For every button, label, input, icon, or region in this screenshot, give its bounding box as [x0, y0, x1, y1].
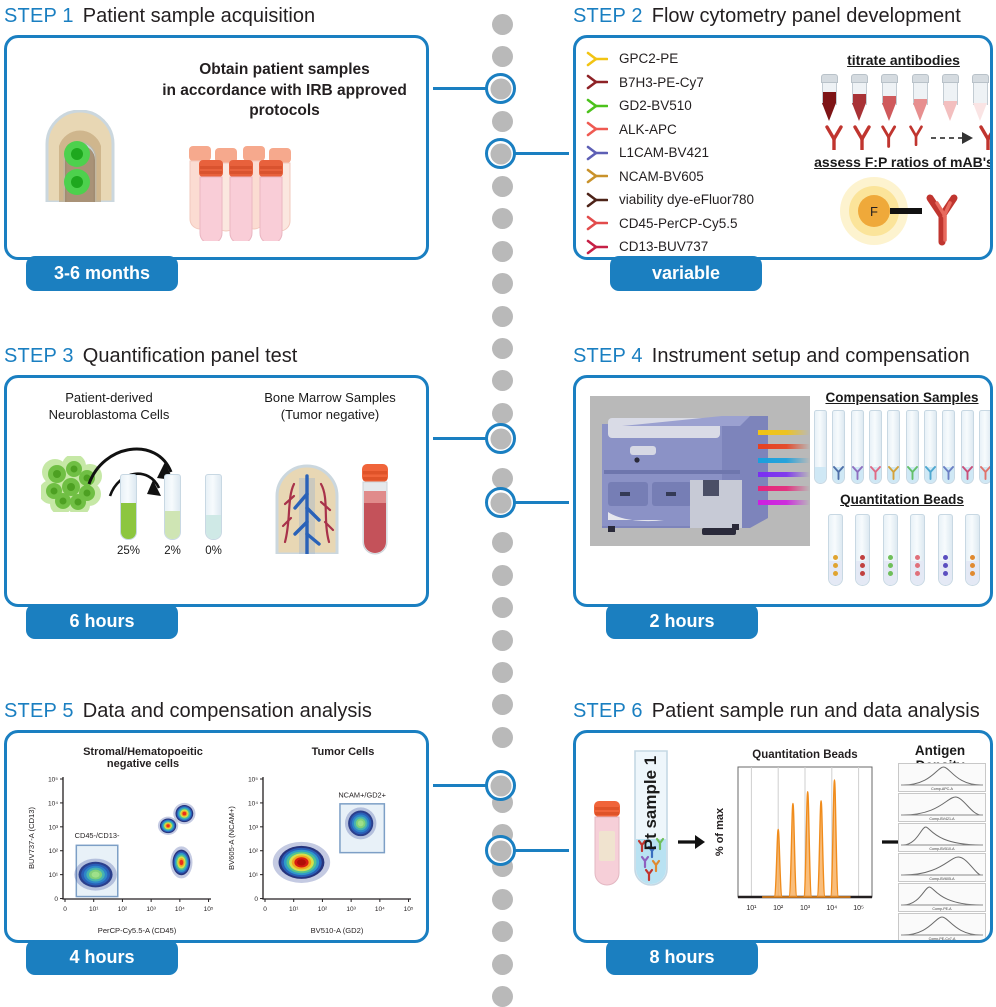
quantitation-beads-histogram[interactable]: Quantitation Beads10¹10²10³10⁴10⁵% of ma… — [710, 747, 878, 927]
tube-cap — [912, 74, 929, 83]
density-channel-label: Comp-PE-A — [899, 907, 985, 911]
titration-tube[interactable] — [972, 74, 989, 121]
dilution-label: 2% — [164, 545, 181, 557]
step-3: STEP 3 Quantification panel test Patient… — [4, 342, 444, 607]
antigen-density-panels[interactable]: Comp-APC-AComp-BV421-AComp-BV510-AComp-B… — [898, 763, 984, 943]
step-3-card[interactable]: Patient-derived Neuroblastoma Cells Bone… — [4, 375, 429, 607]
timeline-dot — [492, 986, 513, 1007]
y-tick-label: 10⁵ — [48, 777, 58, 784]
dilution-label: 0% — [205, 545, 222, 557]
antibody-icon-wrap — [586, 51, 612, 67]
tube-tip-fill — [822, 103, 836, 121]
dilution-tube — [164, 474, 181, 540]
population-density-contour — [358, 820, 364, 826]
antibody-row[interactable]: B7H3-PE-Cy7 — [586, 71, 754, 95]
compensation-antibody-icon — [887, 466, 900, 480]
density-channel-label: Comp-BV510-A — [899, 847, 985, 851]
x-tick-label: 10² — [318, 906, 328, 913]
timeline-dot — [492, 532, 513, 553]
timeline-dot — [492, 370, 513, 391]
bead-dot — [943, 571, 948, 576]
x-axis-label: BV510-A (GD2) — [311, 926, 364, 935]
timeline-dot — [492, 241, 513, 262]
step-2: STEP 2 Flow cytometry panel development … — [573, 2, 996, 260]
step-4: STEP 4 Instrument setup and compensation — [573, 342, 996, 607]
bead-dot — [943, 563, 948, 568]
x-tick-label: 0 — [263, 906, 267, 913]
antibody-icon — [586, 192, 608, 208]
tube-liquid — [823, 92, 836, 103]
y-tick-label: 10³ — [249, 824, 259, 831]
bead-tube[interactable] — [965, 514, 980, 586]
y-tick-label: 10² — [49, 848, 59, 855]
antibody-row[interactable]: ALK-APC — [586, 118, 754, 142]
bead-tube[interactable] — [855, 514, 870, 586]
laser-spectrum-line — [758, 458, 810, 463]
antibody-row[interactable]: CD45-PerCP-Cy5.5 — [586, 212, 754, 236]
population-density-contour — [180, 860, 184, 865]
timeline-connector-node-3[interactable] — [485, 423, 516, 454]
timeline-node-core — [490, 143, 511, 164]
antibody-row[interactable]: CD13-BUV737 — [586, 235, 754, 259]
timeline-dot — [492, 694, 513, 715]
compensation-tube[interactable] — [851, 410, 864, 484]
quantitation-beads-heading: Quantitation Beads — [816, 492, 988, 507]
step-1-body-text: Obtain patient samples in accordance wit… — [147, 60, 422, 122]
compensation-antibody-icon — [979, 466, 992, 480]
step-4-duration-badge: 2 hours — [606, 604, 758, 639]
x-tick-label: 10³ — [146, 906, 156, 913]
y-tick-label: 10³ — [49, 824, 59, 831]
workflow-timeline — [483, 0, 521, 996]
compensation-tube[interactable] — [887, 410, 900, 484]
step-1-duration-badge: 3-6 months — [26, 256, 178, 291]
antibody-label: L1CAM-BV421 — [619, 145, 709, 160]
x-tick-label: 10⁴ — [375, 906, 385, 913]
compensation-samples-heading: Compensation Samples — [814, 390, 990, 405]
timeline-dot — [492, 565, 513, 586]
bead-dot — [833, 563, 838, 568]
antibody-icon-wrap — [586, 121, 612, 137]
bead-tube[interactable] — [883, 514, 898, 586]
timeline-dot — [492, 208, 513, 229]
step-1: STEP 1 Patient sample acquisition Obtain… — [4, 2, 444, 260]
plot-axes — [263, 777, 411, 899]
y-tick-label: 10² — [249, 848, 259, 855]
antibody-row[interactable]: L1CAM-BV421 — [586, 141, 754, 165]
pt-sample-tube: Pt sample 1 — [632, 747, 670, 897]
antibody-label: CD45-PerCP-Cy5.5 — [619, 216, 738, 231]
bone-marrow-icon — [269, 464, 345, 554]
tube-tip-fill — [882, 103, 896, 121]
antigen-density-row[interactable]: Comp-BV510-A — [898, 823, 986, 852]
tube-fill — [206, 515, 221, 539]
compensation-tube-series — [814, 410, 992, 484]
laser-spectrum-line — [758, 486, 810, 491]
bead-dot — [833, 571, 838, 576]
flow-plot-stromal-hematopoeitic[interactable]: Stromal/Hematopoeiticnegative cells010¹1… — [23, 743, 219, 939]
dilution-item[interactable]: 25% — [117, 474, 140, 557]
titration-antibody-gradient — [819, 124, 991, 150]
antigen-density-row[interactable]: Comp-PE-A — [898, 883, 986, 912]
x-tick-label: 10⁵ — [404, 906, 414, 913]
compensation-tube[interactable] — [942, 410, 955, 484]
compensation-tube[interactable] — [979, 410, 992, 484]
density-channel-label: Comp-APC-A — [899, 787, 985, 791]
step-4-title: Instrument setup and compensation — [652, 345, 970, 368]
timeline-node-core — [490, 78, 511, 99]
titration-tube[interactable] — [821, 74, 838, 121]
y-axis-label: BV605-A (NCAM+) — [227, 806, 236, 870]
histogram-x-tick: 10³ — [800, 905, 811, 912]
tube-tip-fill — [852, 103, 866, 121]
y-tick-label: 10¹ — [249, 872, 259, 879]
density-channel-label: Comp-BV605-A — [899, 877, 985, 881]
step-5-header: STEP 5 Data and compensation analysis — [4, 697, 444, 723]
titration-tube[interactable] — [851, 74, 868, 121]
titrate-antibodies-heading: titrate antibodies — [821, 52, 986, 68]
antibody-label: viability dye-eFluor780 — [619, 192, 754, 207]
timeline-dot — [492, 889, 513, 910]
bead-tube[interactable] — [938, 514, 953, 586]
tube-tip-fill — [943, 103, 957, 121]
step-2-number: STEP 2 — [573, 5, 643, 28]
histogram-x-tick: 10⁴ — [826, 905, 837, 912]
tube-liquid — [944, 101, 957, 103]
population-density-contour — [297, 859, 306, 865]
timeline-dot — [492, 111, 513, 132]
bone-marrow-samples-heading: Bone Marrow Samples (Tumor negative) — [245, 390, 415, 424]
step-3-duration-badge: 6 hours — [26, 604, 178, 639]
antigen-density-row[interactable]: Comp-BV605-A — [898, 853, 986, 882]
tube-cap — [881, 74, 898, 83]
compensation-antibody-icon — [942, 466, 955, 480]
bead-dot — [970, 571, 975, 576]
bead-dot — [888, 555, 893, 560]
y-tick-label: 0 — [54, 896, 58, 903]
timeline-connector-node-2[interactable] — [485, 138, 516, 169]
bead-tube[interactable] — [828, 514, 843, 586]
dilution-item[interactable]: 0% — [205, 474, 222, 557]
antibody-icon — [586, 215, 608, 231]
plot-title-line: Stromal/Hematopoeitic — [83, 746, 203, 758]
timeline-dot — [492, 921, 513, 942]
antibody-label: GD2-BV510 — [619, 98, 692, 113]
histogram-x-tick: 10⁵ — [853, 905, 864, 912]
antibody-row[interactable]: GPC2-PE — [586, 47, 754, 71]
compensation-antibody-icon — [961, 466, 974, 480]
laser-spectrum-line — [758, 500, 810, 505]
compensation-tube[interactable] — [906, 410, 919, 484]
tube-cap — [942, 74, 959, 83]
compensation-antibody-icon — [832, 466, 845, 480]
step-3-number: STEP 3 — [4, 345, 74, 368]
y-tick-label: 10⁴ — [48, 800, 58, 807]
compensation-antibody-icon — [906, 466, 919, 480]
timeline-dot — [492, 273, 513, 294]
flow-cytometry-plot[interactable]: Tumor Cells010¹10²10³10⁴10⁵10⁵10⁴10³10²1… — [223, 743, 419, 939]
antibody-icon-wrap — [586, 239, 612, 255]
x-tick-label: 10¹ — [289, 906, 299, 913]
histogram-x-tick: 10² — [773, 905, 784, 912]
step-2-header: STEP 2 Flow cytometry panel development — [573, 2, 996, 28]
step-4-card[interactable]: Compensation Samples Quantitation Beads — [573, 375, 993, 607]
step-2-duration-badge: variable — [610, 256, 762, 291]
tube-tip-fill — [913, 103, 927, 121]
antibody-icon — [586, 145, 608, 161]
step-1-title: Patient sample acquisition — [83, 5, 315, 28]
timeline-connector-node-6[interactable] — [485, 835, 516, 866]
compensation-tube[interactable] — [924, 410, 937, 484]
dilution-series: 25%2%0% — [117, 474, 222, 557]
antibody-label: CD13-BUV737 — [619, 239, 708, 254]
antibody-label: GPC2-PE — [619, 51, 678, 66]
fluorophore-protein-ratio-icon: F — [838, 176, 973, 246]
timeline-node-core — [490, 428, 511, 449]
timeline-connector-node-4[interactable] — [485, 487, 516, 518]
timeline-dot — [492, 468, 513, 489]
gate-label: NCAM+/GD2+ — [338, 791, 386, 800]
histogram-svg[interactable]: Quantitation Beads10¹10²10³10⁴10⁵% of ma… — [710, 747, 878, 927]
step-1-card[interactable]: Obtain patient samples in accordance wit… — [4, 35, 429, 260]
population-density-contour — [182, 812, 186, 816]
compensation-tube[interactable] — [869, 410, 882, 484]
x-tick-label: 10³ — [346, 906, 356, 913]
tube-fill — [815, 467, 826, 483]
y-tick-label: 10¹ — [49, 872, 59, 879]
timeline-dot — [492, 176, 513, 197]
flow-plot-tumor-cells[interactable]: Tumor Cells010¹10²10³10⁴10⁵10⁵10⁴10³10²1… — [223, 743, 419, 939]
antibody-icon-wrap — [586, 192, 612, 208]
bead-dot — [833, 555, 838, 560]
titration-tube-series — [821, 74, 989, 121]
fluorophore-letter: F — [870, 204, 878, 219]
patient-derived-cells-heading: Patient-derived Neuroblastoma Cells — [29, 390, 189, 424]
density-channel-label: Comp-PE-Cy7-A — [899, 937, 985, 941]
bead-dot — [888, 563, 893, 568]
x-axis-label: PerCP-Cy5.5-A (CD45) — [98, 926, 177, 935]
dilution-label: 25% — [117, 545, 140, 557]
dilution-tube — [205, 474, 222, 540]
arrow-right-icon-1 — [678, 833, 706, 851]
step-6: STEP 6 Patient sample run and data analy… — [573, 697, 996, 943]
plot-title-line: Tumor Cells — [312, 746, 375, 758]
timeline-connector-line-6 — [515, 849, 569, 852]
titration-antibody-series — [819, 124, 991, 155]
step-3-header: STEP 3 Quantification panel test — [4, 342, 444, 368]
population-density-contour — [166, 824, 169, 827]
antibody-row[interactable]: GD2-BV510 — [586, 94, 754, 118]
compensation-tube[interactable] — [814, 410, 827, 484]
histogram-title: Quantitation Beads — [752, 749, 857, 761]
tube-glass-wrap — [814, 410, 827, 484]
step-4-number: STEP 4 — [573, 345, 643, 368]
step-5-duration-badge: 4 hours — [26, 940, 178, 975]
blood-tube-icon — [359, 464, 391, 556]
antigen-density-row[interactable]: Comp-BV421-A — [898, 793, 986, 822]
plot-title-line: negative cells — [107, 758, 179, 770]
timeline-connector-node-5[interactable] — [485, 770, 516, 801]
titration-tube[interactable] — [912, 74, 929, 121]
x-tick-label: 10⁴ — [175, 906, 185, 913]
timeline-dot — [492, 338, 513, 359]
antibody-row[interactable]: NCAM-BV605 — [586, 165, 754, 189]
timeline-dot — [492, 597, 513, 618]
timeline-dot — [492, 14, 513, 35]
timeline-dot — [492, 954, 513, 975]
tube-fill — [121, 503, 136, 539]
compensation-antibody-icon — [924, 466, 937, 480]
x-tick-label: 0 — [63, 906, 67, 913]
step-2-card[interactable]: GPC2-PEB7H3-PE-Cy7GD2-BV510ALK-APCL1CAM-… — [573, 35, 993, 260]
timeline-dot — [492, 630, 513, 651]
laser-spectrum-line — [758, 472, 810, 477]
step-6-title: Patient sample run and data analysis — [652, 700, 980, 723]
tube-fill — [165, 511, 180, 539]
bead-dot — [888, 571, 893, 576]
x-tick-label: 10⁵ — [204, 906, 214, 913]
antibody-icon-wrap — [586, 74, 612, 90]
step-1-number: STEP 1 — [4, 5, 74, 28]
step-6-card[interactable]: Pt sample 1 Quantitation Beads10¹10²10³1… — [573, 730, 993, 943]
antibody-icon — [586, 121, 608, 137]
antibody-icon — [586, 98, 608, 114]
step-1-header: STEP 1 Patient sample acquisition — [4, 2, 444, 28]
laser-spectrum-line — [758, 430, 810, 435]
timeline-node-core — [490, 840, 511, 861]
y-tick-label: 10⁵ — [248, 777, 258, 784]
step-5-title: Data and compensation analysis — [83, 700, 372, 723]
antibody-icon — [586, 74, 608, 90]
timeline-dot — [492, 727, 513, 748]
quantitation-bead-tube-series — [828, 514, 980, 586]
antibody-icon — [586, 168, 608, 184]
step-6-header: STEP 6 Patient sample run and data analy… — [573, 697, 996, 723]
flow-cytometry-plot[interactable]: Stromal/Hematopoeiticnegative cells010¹1… — [23, 743, 219, 939]
fp-ratio-heading: assess F:P ratios of mAB's — [814, 154, 993, 170]
flow-cytometer-instrument-icon — [590, 396, 810, 546]
dilution-item[interactable]: 2% — [164, 474, 181, 557]
antibody-icon — [586, 239, 608, 255]
timeline-dot — [492, 46, 513, 67]
bead-dot — [970, 563, 975, 568]
antibody-icon-wrap — [586, 168, 612, 184]
tube-cap — [821, 74, 838, 83]
antibody-icon-wrap — [586, 215, 612, 231]
compensation-tube[interactable] — [961, 410, 974, 484]
step-3-title: Quantification panel test — [83, 345, 298, 368]
antibody-icon-wrap — [586, 98, 612, 114]
compensation-tube[interactable] — [832, 410, 845, 484]
step-6-number: STEP 6 — [573, 700, 643, 723]
step-5-number: STEP 5 — [4, 700, 74, 723]
tube-cap — [851, 74, 868, 83]
antigen-density-row[interactable]: Comp-APC-A — [898, 763, 986, 792]
timeline-dot — [492, 403, 513, 424]
antigen-density-row[interactable]: Comp-PE-Cy7-A — [898, 913, 986, 942]
bead-dot — [943, 555, 948, 560]
antibody-label: ALK-APC — [619, 122, 677, 137]
bead-dot — [970, 555, 975, 560]
timeline-connector-node-1[interactable] — [485, 73, 516, 104]
compensation-antibody-icon — [869, 466, 882, 480]
y-tick-label: 0 — [254, 896, 258, 903]
y-tick-label: 10⁴ — [248, 800, 258, 807]
tube-body — [973, 83, 988, 105]
bone-marrow-biopsy-icon — [37, 110, 123, 202]
timeline-dot — [492, 662, 513, 683]
antibody-icon-wrap — [586, 145, 612, 161]
antibody-panel-list: GPC2-PEB7H3-PE-Cy7GD2-BV510ALK-APCL1CAM-… — [586, 47, 754, 259]
y-axis-label: BUV737-A (CD13) — [27, 807, 36, 870]
antibody-icon — [586, 51, 608, 67]
tube-tip-fill — [973, 103, 987, 121]
tube-liquid — [853, 94, 866, 103]
laser-spectrum-line — [758, 444, 810, 449]
patient-sample-tubes-icon — [187, 146, 307, 241]
population-density-contour — [92, 872, 100, 878]
step-6-duration-badge: 8 hours — [606, 940, 758, 975]
timeline-connector-line-4 — [515, 501, 569, 504]
density-channel-label: Comp-BV421-A — [899, 817, 985, 821]
x-tick-label: 10² — [118, 906, 128, 913]
dilution-tube-series: 25%2%0% — [117, 474, 222, 557]
tube-liquid — [914, 99, 927, 103]
tube-liquid — [883, 96, 896, 103]
patient-blood-tube-icon — [590, 801, 624, 887]
titration-tube[interactable] — [942, 74, 959, 121]
compensation-antibody-icon — [851, 466, 864, 480]
antibody-row[interactable]: viability dye-eFluor780 — [586, 188, 754, 212]
timeline-node-core — [490, 492, 511, 513]
antibody-label: NCAM-BV605 — [619, 169, 704, 184]
timeline-node-core — [490, 775, 511, 796]
dilution-tube — [120, 474, 137, 540]
histogram-x-tick: 10¹ — [746, 905, 757, 912]
gate-label: CD45-/CD13- — [75, 831, 120, 840]
x-tick-label: 10¹ — [89, 906, 99, 913]
step-5-card[interactable]: Stromal/Hematopoeiticnegative cells010¹1… — [4, 730, 429, 943]
step-4-header: STEP 4 Instrument setup and compensation — [573, 342, 996, 368]
titration-tube[interactable] — [881, 74, 898, 121]
timeline-dot — [492, 306, 513, 327]
step-2-title: Flow cytometry panel development — [652, 5, 961, 28]
pt-sample-label: Pt sample 1 — [641, 748, 661, 858]
timeline-connector-line-2 — [515, 152, 569, 155]
histogram-y-label: % of max — [714, 807, 726, 856]
step-5: STEP 5 Data and compensation analysis St… — [4, 697, 444, 943]
bead-tube[interactable] — [910, 514, 925, 586]
antibody-label: B7H3-PE-Cy7 — [619, 75, 704, 90]
tube-cap — [972, 74, 989, 83]
